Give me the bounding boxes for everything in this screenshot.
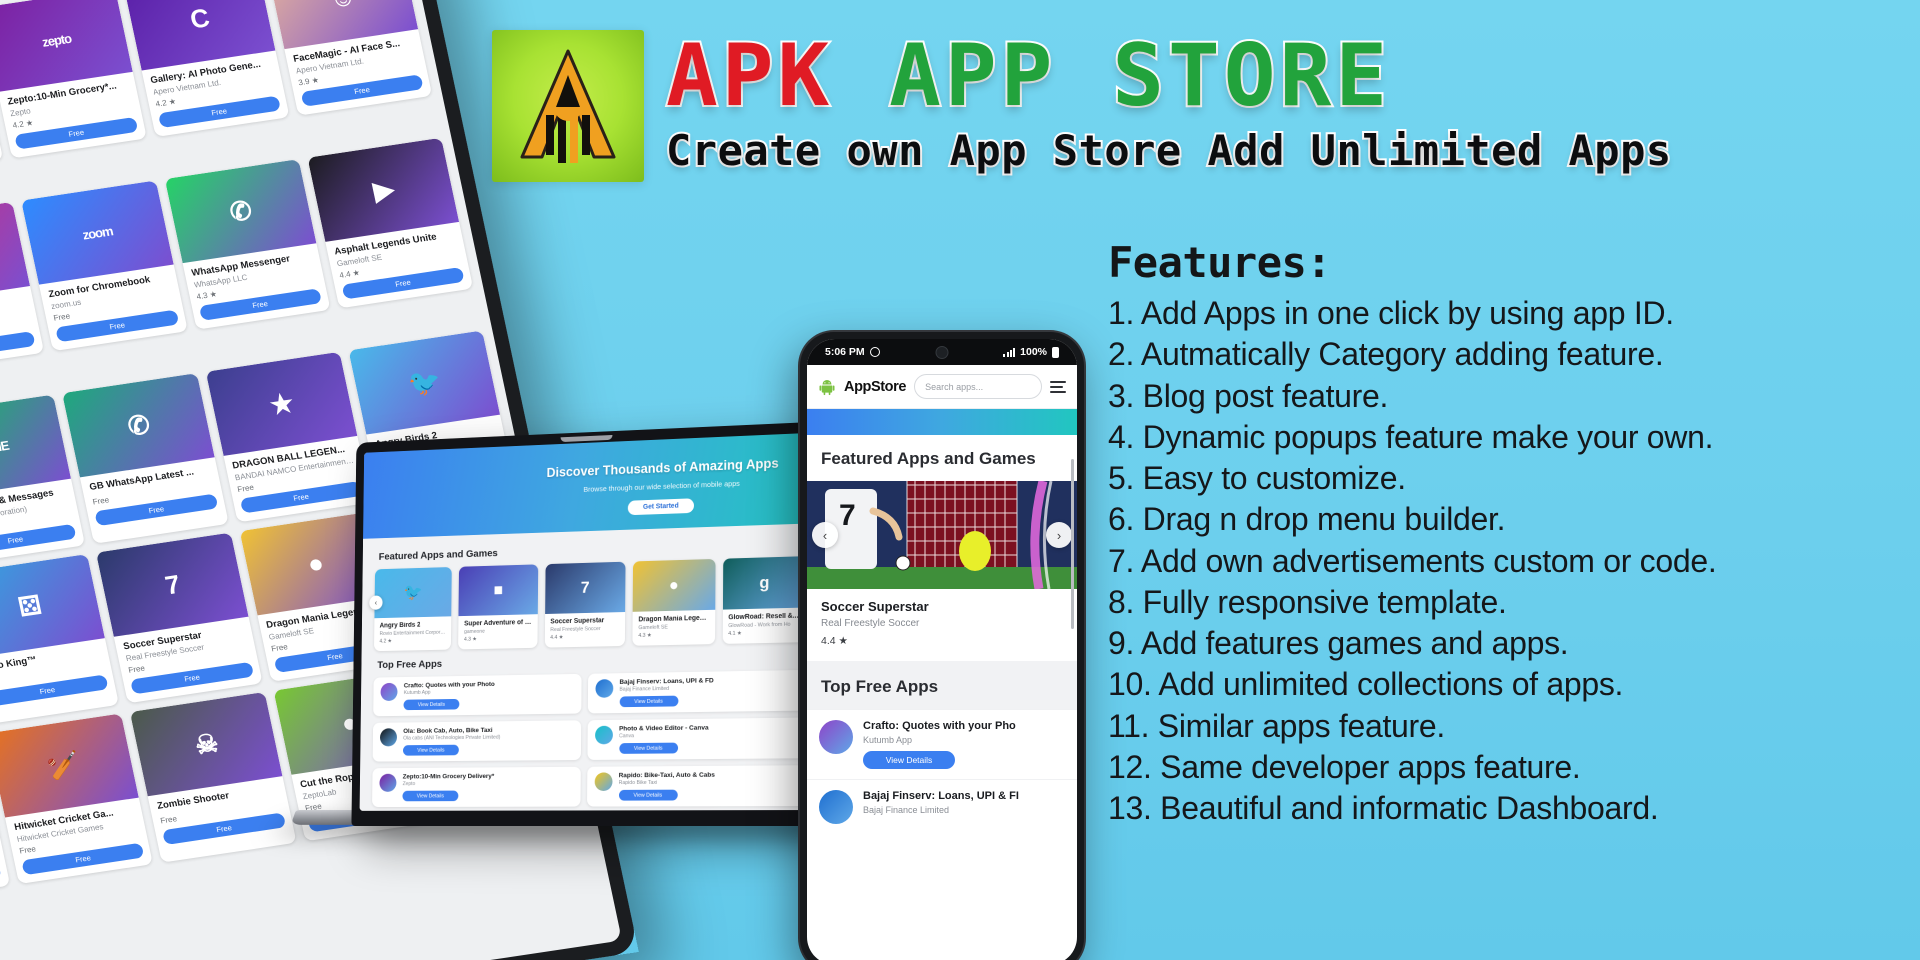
phone-mockup: 5:06 PM 100% [800,332,1084,960]
laptop-mockup: Discover Thousands of Amazing Apps Brows… [318,418,878,918]
app-card[interactable]: gGlowRoad: Resell &...GlowRoad - Work fr… [722,556,806,644]
signal-bars-icon [1003,348,1015,357]
view-details-button[interactable]: View Details [403,745,459,756]
app-developer: Rapido Bike Taxi [619,779,798,786]
brand-title-apk: APK [666,26,833,126]
feature-item: 9. Add features games and apps. [1108,623,1908,664]
app-thumbnail: 7 [545,562,626,614]
features-panel: Features: 1. Add Apps in one click by us… [1108,238,1908,829]
list-item[interactable]: Bajaj Finserv: Loans, UPI & FIBajaj Fina… [807,779,1077,834]
battery-percent: 100% [1020,346,1047,358]
list-item[interactable]: Bajaj Finserv: Loans, UPI & FDBajaj Fina… [587,670,806,714]
app-card[interactable]: 🐦Angry Birds 2Rovio Entertainment Corpor… [374,567,452,651]
app-icon [594,772,612,791]
list-item[interactable]: Ola: Book Cab, Auto, Bike TaxiOla cabs (… [373,720,581,761]
hamburger-menu-icon[interactable] [1050,381,1066,393]
laptop-page-body: Featured Apps and Games ‹ 🐦Angry Birds 2… [360,523,821,811]
app-developer: Gameloft SE [638,624,709,631]
app-icon [379,774,396,792]
app-name: GlowRoad: Resell &... [728,613,800,622]
view-details-button[interactable]: View Details [619,743,678,754]
app-name: Soccer Superstar [550,617,619,625]
app-developer: Ola cabs (ANI Technologies Private Limit… [403,734,573,742]
app-icon [595,726,613,745]
app-developer: Bajaj Finance Limited [863,805,1065,815]
get-started-button[interactable]: Get Started [628,498,694,515]
app-name: Zepto:10-Min Grocery Delivery* [403,773,573,781]
phone-scrollbar[interactable] [1071,459,1074,629]
view-details-button[interactable]: View Details [402,791,458,802]
hero-title: Discover Thousands of Amazing Apps [522,455,805,481]
phone-topfree-heading: Top Free Apps [807,661,1077,709]
view-details-button[interactable]: View Details [619,696,678,708]
app-rating: 4.2 ★ [379,637,446,644]
app-card[interactable]: CGallery: AI Photo Gene...Apero Vietnam … [123,0,289,137]
feature-item: 4. Dynamic popups feature make your own. [1108,417,1908,458]
laptop-featured-row: ‹ 🐦Angry Birds 2Rovio Entertainment Corp… [374,556,807,651]
app-thumbnail: g [723,556,807,609]
apk-app-store-logo [492,30,644,182]
app-card[interactable]: ●Dragon Mania LegendsGameloft SE4.3 ★ [633,559,716,646]
carousel-next-icon[interactable]: › [1046,522,1072,548]
laptop-topfree-heading: Top Free Apps [377,651,806,671]
app-name: Crafto: Quotes with your Pho [863,720,1065,732]
app-name: Rapido: Bike-Taxi, Auto & Cabs [619,771,798,779]
status-time: 5:06 PM [825,346,865,358]
list-item[interactable]: Zepto:10-Min Grocery Delivery*ZeptoView … [372,767,580,807]
hero-subtitle: Browse through our wide selection of mob… [521,476,804,496]
laptop-screen: Discover Thousands of Amazing Apps Brows… [360,432,821,810]
app-rating: 4.4 ★ [550,633,619,640]
app-developer: Real Freestyle Soccer [550,626,619,633]
app-rating: 4.3 ★ [464,635,532,642]
laptop-topfree-list: Crafto: Quotes with your PhotoKutumb App… [372,670,806,807]
battery-full-icon [1052,347,1059,358]
phone-store-logo-text: AppStore [844,379,906,395]
app-name: Dragon Mania Legends [638,615,709,624]
brand-header: APK APP STORE Create own App Store Add U… [492,30,1672,182]
do-not-disturb-icon [870,347,880,357]
app-developer: gameone [464,628,532,635]
feature-item: 13. Beautiful and informatic Dashboard. [1108,788,1908,829]
app-card[interactable]: ✆WhatsApp MessengerWhatsApp LLC4.3 ★Free [164,159,330,330]
app-name: Super Adventure of Ja... [464,619,532,627]
app-developer: Rovio Entertainment Corporation [380,630,447,637]
camera-punch-hole-icon [936,346,949,359]
app-name: Bajaj Finserv: Loans, UPI & FI [863,790,1065,802]
app-rating: 4.3 ★ [638,631,709,638]
app-card[interactable]: 7Soccer SuperstarReal Freestyle SoccerFr… [96,533,262,704]
features-list: 1. Add Apps in one click by using app ID… [1108,293,1908,829]
app-icon [380,728,397,746]
carousel-prev-icon[interactable]: ‹ [812,522,838,548]
brand-subtitle: Create own App Store Add Unlimited Apps [666,126,1672,175]
app-card[interactable]: ■Super Adventure of Ja...gameone4.3 ★ [458,564,538,649]
laptop-lid: Discover Thousands of Amazing Apps Brows… [351,421,829,826]
app-developer: Kutumb App [863,735,1065,745]
feature-item: 11. Similar apps feature. [1108,706,1908,747]
app-name: Angry Birds 2 [380,621,447,629]
app-card[interactable]: ✆GB WhatsApp Latest ...FreeFree [62,373,228,544]
phone-status-bar: 5:06 PM 100% [807,339,1077,365]
poster-canvas: ...picks on PC CanvaPhoto & Video Editor… [0,0,1920,960]
install-button[interactable]: Free [0,524,77,557]
app-card[interactable]: ▶Asphalt Legends UniteGameloft SE4.4 ★Fr… [307,138,473,309]
app-thumbnail: ● [633,559,715,612]
app-thumbnail: 🐦 [374,567,452,618]
view-details-button[interactable]: View Details [618,790,677,801]
view-details-button[interactable]: View Details [863,751,955,769]
app-rating: 4.1 ★ [728,629,800,636]
app-icon [819,720,853,754]
app-card[interactable]: 7Soccer SuperstarReal Freestyle Soccer4.… [545,562,626,648]
app-card[interactable]: ☠Zombie ShooterFreeFree [130,692,296,863]
app-developer: Zepto [403,780,573,787]
app-card[interactable]: 🏏Hitwicket Cricket Ga...Hitwicket Cricke… [0,713,153,884]
install-button[interactable]: Free [0,331,36,364]
app-developer: Canva [619,732,798,740]
phone-screen: 5:06 PM 100% [807,339,1077,960]
brand-title-appstore: APP STORE [889,26,1391,126]
feature-item: 12. Same developer apps feature. [1108,747,1908,788]
app-icon [819,790,853,824]
phone-search-input[interactable]: Search apps... [914,374,1042,399]
featured-app-rating: 4.4 ★ [821,635,1063,647]
app-icon [380,683,397,701]
app-card[interactable]: ☺FaceMagic - AI Face S...Apero Vietnam L… [266,0,432,116]
app-icon [595,679,613,698]
features-heading: Features: [1108,238,1908,287]
list-item[interactable]: Crafto: Quotes with your PhotoKutumb App… [373,674,581,716]
app-card[interactable]: zoomZoom for Chromebookzoom.usFreeFree [21,180,187,351]
app-card[interactable]: zeptoZepto:10-Min Grocery*...Zepto4.2 ★F… [0,0,146,158]
list-item[interactable]: Crafto: Quotes with your PhoKutumb AppVi… [807,709,1077,779]
install-button[interactable]: Free [0,864,2,897]
android-robot-icon [818,378,836,396]
hero-banner: Discover Thousands of Amazing Apps Brows… [363,432,821,538]
featured-app-name: Soccer Superstar [821,599,1063,614]
list-item[interactable]: Rapido: Bike-Taxi, Auto & CabsRapido Bik… [587,765,806,806]
feature-item: 1. Add Apps in one click by using app ID… [1108,293,1908,334]
phone-app-bar: AppStore Search apps... [807,365,1077,409]
featured-app-developer: Real Freestyle Soccer [821,618,1063,629]
feature-item: 5. Easy to customize. [1108,458,1908,499]
list-item[interactable]: Photo & Video Editor - CanvaCanvaView De… [587,718,806,760]
feature-item: 3. Blog post feature. [1108,376,1908,417]
app-thumbnail: ■ [459,564,538,616]
app-developer: GlowRoad - Work from Ho [728,622,800,630]
view-details-button[interactable]: View Details [404,699,460,710]
feature-item: 7. Add own advertisements custom or code… [1108,541,1908,582]
phone-topfree-list: Crafto: Quotes with your PhoKutumb AppVi… [807,709,1077,834]
letter-a-logo-icon [514,45,622,167]
feature-item: 10. Add unlimited collections of apps. [1108,664,1908,705]
phone-featured-app-card[interactable]: Soccer Superstar Real Freestyle Soccer 4… [807,589,1077,661]
phone-featured-heading: Featured Apps and Games [807,435,1077,481]
feature-item: 2. Autmatically Category adding feature. [1108,334,1908,375]
feature-item: 8. Fully responsive template. [1108,582,1908,623]
svg-text:7: 7 [839,499,856,532]
phone-hero-strip [807,409,1077,435]
feature-item: 6. Drag n drop menu builder. [1108,499,1908,540]
carousel-image-soccer: 7 [807,481,1077,589]
phone-carousel: 7 ‹ › [807,481,1077,589]
